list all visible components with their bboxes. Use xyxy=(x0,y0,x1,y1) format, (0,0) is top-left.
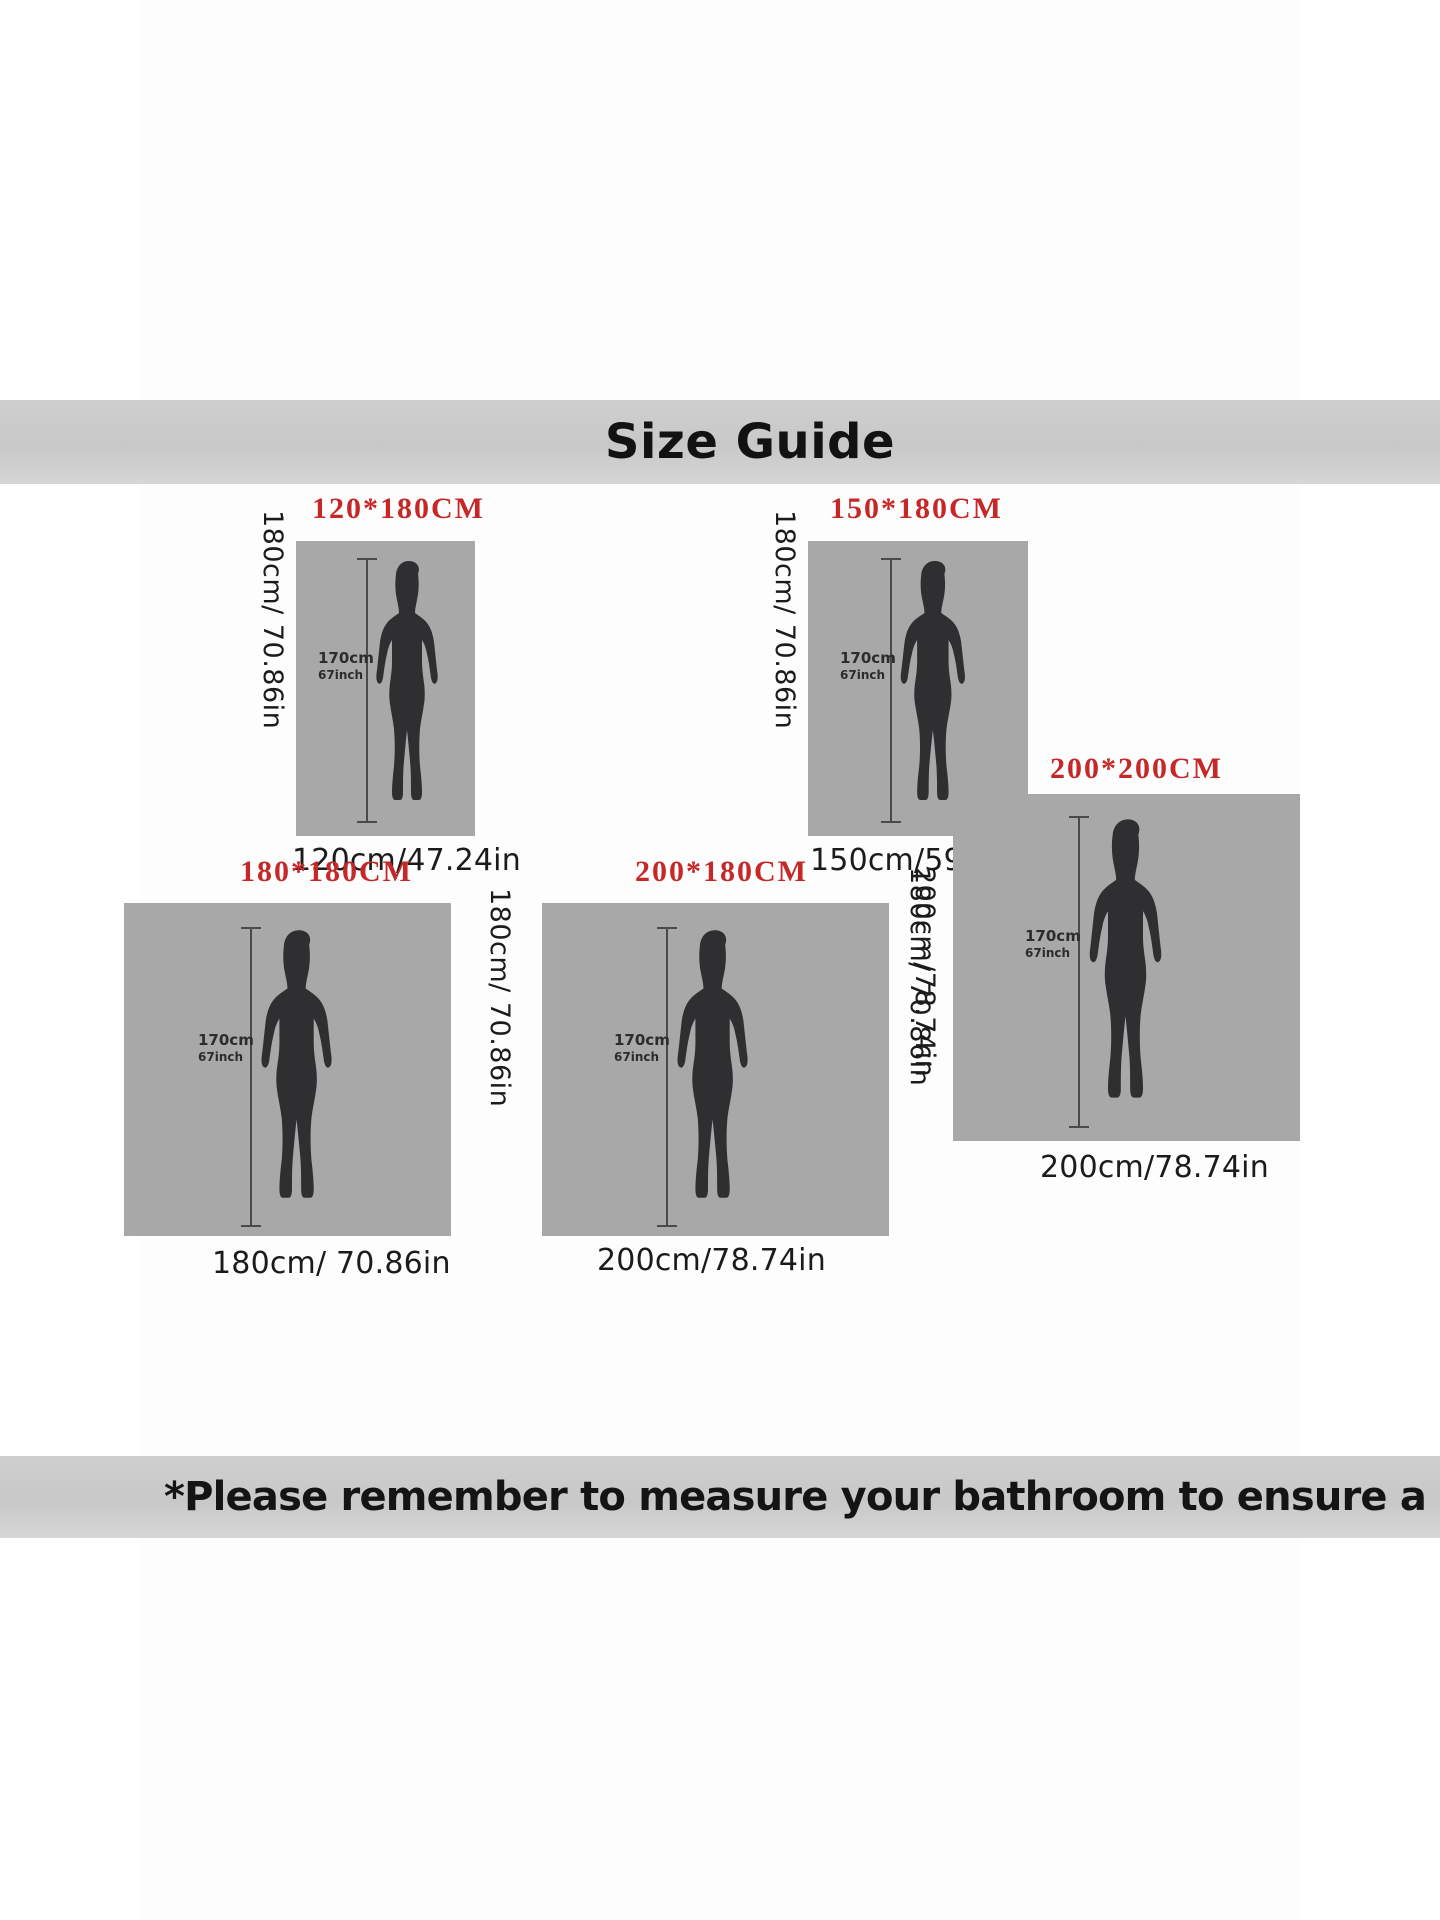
woman-silhouette-icon xyxy=(252,928,348,1228)
height-label-180x180: 180cm/ 70.86in xyxy=(484,888,515,1107)
size-card-200x180: 200*180CM 170cm 67inch 180cm/ 70.86in 20… xyxy=(540,855,960,1325)
size-label-150x180: 150*180CM xyxy=(830,492,1003,526)
figure-height-note-180x180: 170cm 67inch xyxy=(198,1031,254,1065)
figure-height-note-120x180: 170cm 67inch xyxy=(318,649,374,683)
woman-silhouette-icon xyxy=(668,928,764,1228)
size-guide-sheet: Size Guide 120*180CM 180cm/ 70.86in 170c… xyxy=(0,0,1440,1920)
figure-height-note-200x180: 170cm 67inch xyxy=(614,1031,670,1065)
figure-height-note-200x200: 170cm 67inch xyxy=(1025,927,1081,961)
width-label-180x180: 180cm/ 70.86in xyxy=(212,1246,451,1281)
page-title: Size Guide xyxy=(545,418,895,466)
size-label-120x180: 120*180CM xyxy=(312,492,485,526)
size-label-200x180: 200*180CM xyxy=(635,855,808,889)
woman-silhouette-icon xyxy=(368,559,452,827)
swatch-panel-200x180: 170cm 67inch xyxy=(542,903,889,1236)
size-card-180x180: 180*180CM 170cm 67inch 180cm/ 70.86in 18… xyxy=(140,855,560,1325)
size-label-180x180: 180*180CM xyxy=(240,855,413,889)
swatch-panel-120x180: 170cm 67inch xyxy=(296,541,475,836)
size-guide-artwork: Size Guide 120*180CM 180cm/ 70.86in 170c… xyxy=(140,0,1300,1920)
width-label-200x180: 200cm/78.74in xyxy=(597,1243,826,1278)
footer-note: *Please remember to measure your bathroo… xyxy=(0,1474,1440,1520)
size-label-200x200: 200*200CM xyxy=(1050,752,1223,786)
figure-height-note-150x180: 170cm 67inch xyxy=(840,649,896,683)
width-label-200x200: 200cm/78.74in xyxy=(1040,1150,1269,1185)
height-label-150x180: 180cm/ 70.86in xyxy=(769,510,800,729)
height-label-120x180: 180cm/ 70.86in xyxy=(257,510,288,729)
height-label-200x200: 200cm/78.74in xyxy=(909,867,940,1077)
title-banner: Size Guide xyxy=(0,400,1440,484)
swatch-panel-200x200: 170cm 67inch xyxy=(953,794,1300,1141)
swatch-panel-180x180: 170cm 67inch xyxy=(124,903,451,1236)
footer-banner: *Please remember to measure your bathroo… xyxy=(0,1456,1440,1538)
size-card-200x200: 200*200CM 170cm 67inch 200cm/78.74in 200… xyxy=(930,752,1300,1322)
woman-silhouette-icon xyxy=(1080,817,1178,1129)
